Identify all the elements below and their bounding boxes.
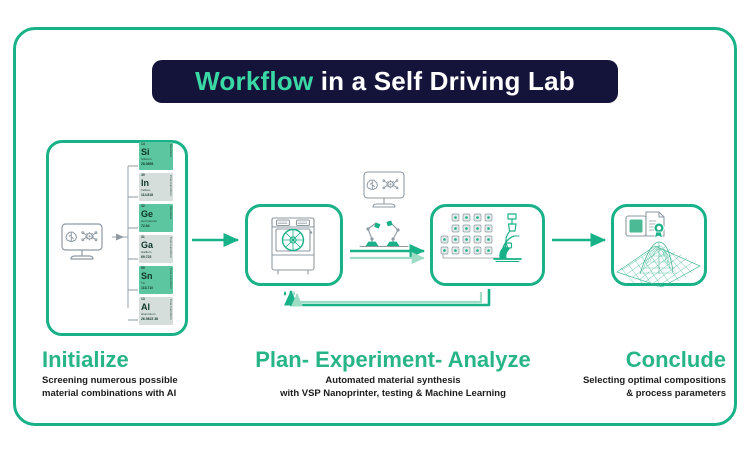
stage-subtitle-initialize-line1: Screening numerous possible (42, 375, 242, 388)
tree-arrow-head (116, 234, 124, 241)
stage-subtitle-plan-line2: with VSP Nanoprinter, testing & Machine … (243, 388, 543, 401)
caption-initialize: Initialize Screening numerous possible m… (42, 348, 242, 401)
caption-conclude: Conclude Selecting optimal compositions … (540, 348, 726, 401)
ai-monitor-icon (62, 224, 102, 259)
stage-subtitle-conclude: Selecting optimal compositions & process… (540, 375, 726, 401)
droplet-marks (284, 291, 295, 296)
ml-monitor-icon (364, 172, 404, 207)
stage-subtitle-conclude-line1: Selecting optimal compositions (540, 375, 726, 388)
stage-heading-conclude: Conclude (540, 348, 726, 371)
sample-grid-icon (441, 214, 499, 258)
arrow-experiment-to-analyze (350, 251, 424, 258)
stage-subtitle-conclude-line2: & process parameters (540, 388, 726, 401)
feedback-loop-arrow (291, 289, 489, 305)
robot-arms-icon (360, 221, 408, 247)
stage-subtitle-initialize-line2: material combinations with AI (42, 388, 242, 401)
workflow-diagram: Workflow in a Self Driving Lab 14SiSilic… (0, 0, 750, 450)
stage-heading-initialize: Initialize (42, 348, 242, 371)
machine-drum-icon (283, 230, 304, 251)
stage-heading-plan: Plan- Experiment- Analyze (243, 348, 543, 371)
stage-subtitle-plan-line1: Automated material synthesis (243, 375, 543, 388)
stage-subtitle-plan: Automated material synthesis with VSP Na… (243, 375, 543, 401)
surface-plot-icon (617, 242, 700, 287)
caption-plan-experiment-analyze: Plan- Experiment- Analyze Automated mate… (243, 348, 543, 401)
element-branch-tree (112, 166, 138, 320)
stage-subtitle-initialize: Screening numerous possible material com… (42, 375, 242, 401)
microscope-icon (494, 214, 521, 262)
report-award-icon (626, 212, 664, 238)
